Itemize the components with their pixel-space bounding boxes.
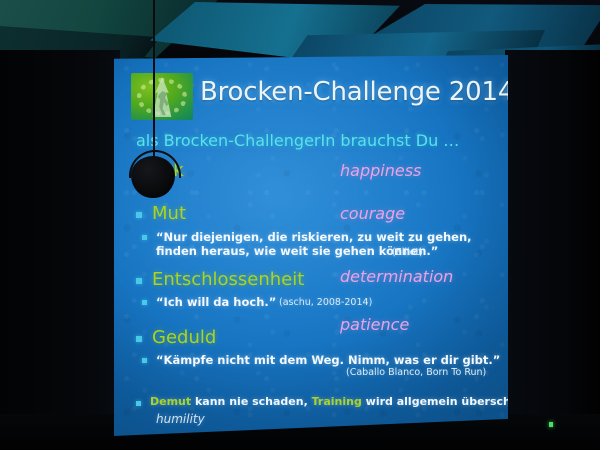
final-highlight-training: Training	[312, 395, 362, 408]
slide-subtitle: als Brocken-ChallengerIn brauchst Du …	[136, 131, 459, 150]
wall-right	[505, 50, 600, 450]
attribution-aschu: (aschu, 2008-2014)	[279, 297, 372, 308]
term-entschlossenheit: Entschlossenheit	[152, 269, 304, 290]
equipment-led-indicator	[549, 422, 553, 427]
brocken-challenge-logo-icon	[131, 73, 193, 120]
slide-title: Brocken-Challenge 2014	[200, 77, 508, 107]
term-geduld: Geduld	[152, 327, 216, 348]
lamp-cable	[153, 0, 155, 158]
final-highlight-demut: Demut	[150, 395, 191, 408]
lamp-shade	[131, 156, 175, 198]
translation-determination: determination	[340, 267, 453, 286]
final-tail-text: wird allgemein überschätzt	[362, 395, 508, 408]
bullet-square-icon	[136, 336, 142, 342]
quote-entschlossenheit: “Ich will da hoch.”	[156, 295, 276, 309]
bullet-square-icon	[142, 358, 147, 363]
bullet-square-icon	[136, 401, 141, 406]
final-line: Demut kann nie schaden, Training wird al…	[150, 395, 508, 408]
bullet-square-icon	[136, 212, 142, 218]
translation-happiness: happiness	[340, 161, 421, 180]
pendant-lamp	[127, 150, 179, 198]
translation-humility: humility	[156, 412, 205, 426]
wall-left	[0, 50, 120, 450]
presentation-slide: Brocken-Challenge 2014 als Brocken-Chall…	[114, 55, 508, 436]
quote-geduld: “Kämpfe nicht mit dem Weg. Nimm, was er …	[156, 353, 500, 367]
bullet-square-icon	[142, 235, 147, 240]
attribution-elliot: (Elliot)	[392, 247, 423, 258]
term-mut: Mut	[152, 203, 186, 224]
bullet-square-icon	[136, 278, 142, 284]
translation-courage: courage	[340, 204, 405, 223]
bullet-square-icon	[142, 300, 147, 305]
lecture-hall-scene: Brocken-Challenge 2014 als Brocken-Chall…	[0, 0, 600, 450]
final-middle-text: kann nie schaden,	[191, 395, 311, 408]
attribution-caballo-blanco: (Caballo Blanco, Born To Run)	[346, 367, 486, 378]
translation-patience: patience	[340, 315, 409, 334]
quote-mut-line1: “Nur diejenigen, die riskieren, zu weit …	[156, 230, 472, 244]
projection-screen: Brocken-Challenge 2014 als Brocken-Chall…	[114, 55, 508, 436]
